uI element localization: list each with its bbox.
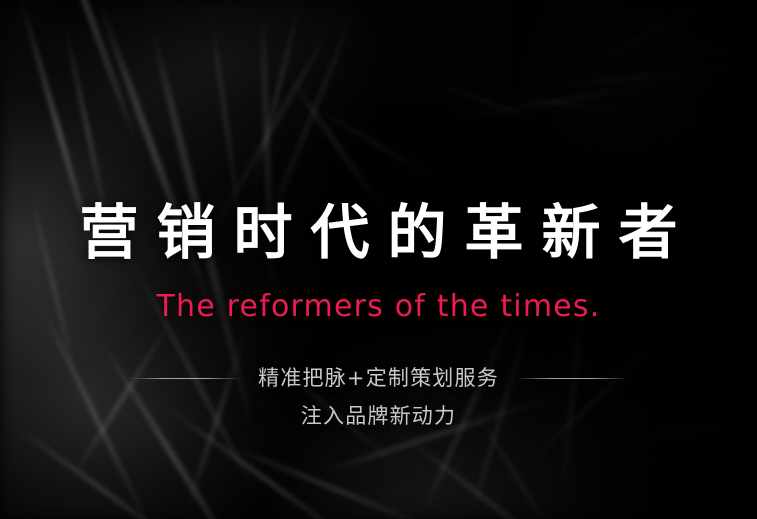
hero-banner: 营销时代的革新者 The reformers of the times. 精准把… <box>0 0 757 519</box>
tagline-row: 精准把脉+定制策划服务 <box>0 368 757 389</box>
tagline-secondary: 注入品牌新动力 <box>0 406 757 427</box>
tagline-primary: 精准把脉+定制策划服务 <box>258 368 499 389</box>
divider-rule-left <box>129 378 241 379</box>
page-subtitle-english: The reformers of the times. <box>0 292 757 322</box>
divider-rule-right <box>516 378 628 379</box>
page-title: 营销时代的革新者 <box>0 203 757 262</box>
hero-content: 营销时代的革新者 The reformers of the times. 精准把… <box>0 0 757 519</box>
